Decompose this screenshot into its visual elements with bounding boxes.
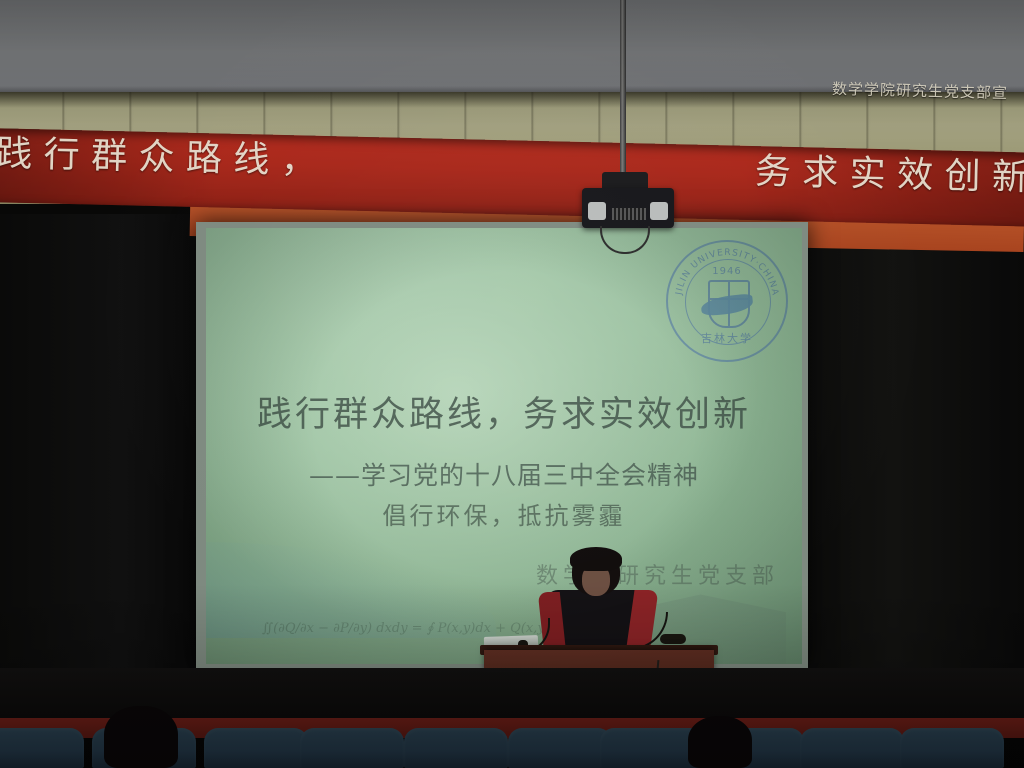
microphone-right-head xyxy=(660,634,686,644)
audience-seat xyxy=(508,728,612,768)
curtain-left xyxy=(0,214,202,714)
projection-screen: JILIN UNIVERSITY·CHINA 1946 吉林大学 践行群众路线，… xyxy=(206,228,802,664)
banner-text-right: 务 求 实 效 创 新 xyxy=(754,154,1024,196)
speaker-hair xyxy=(570,547,622,571)
projector-vent xyxy=(612,208,646,220)
curtain-right xyxy=(806,214,1024,714)
audience-seat xyxy=(204,728,308,768)
banner-signature: 数学学院研究生党支部宣 xyxy=(832,78,1008,103)
audience-seat-row xyxy=(0,726,1024,768)
lecture-hall-photo: 践 行 群 众 路 线 ， 务 求 实 效 创 新 数学学院研究生党支部宣 JI… xyxy=(0,0,1024,768)
banner-text-left: 践 行 群 众 路 线 ， xyxy=(0,136,317,180)
audience-seat xyxy=(404,728,508,768)
audience-head xyxy=(688,716,752,768)
audience-head xyxy=(104,706,178,768)
audience-seat xyxy=(300,728,404,768)
projector-icon xyxy=(582,188,674,228)
projector-lens-left xyxy=(588,202,606,220)
projector-pole xyxy=(620,0,626,194)
audience-seat xyxy=(900,728,1004,768)
projector-lens-right xyxy=(650,202,668,220)
audience-seat xyxy=(800,728,904,768)
screen-vignette xyxy=(206,228,802,664)
audience-seat xyxy=(0,728,84,768)
